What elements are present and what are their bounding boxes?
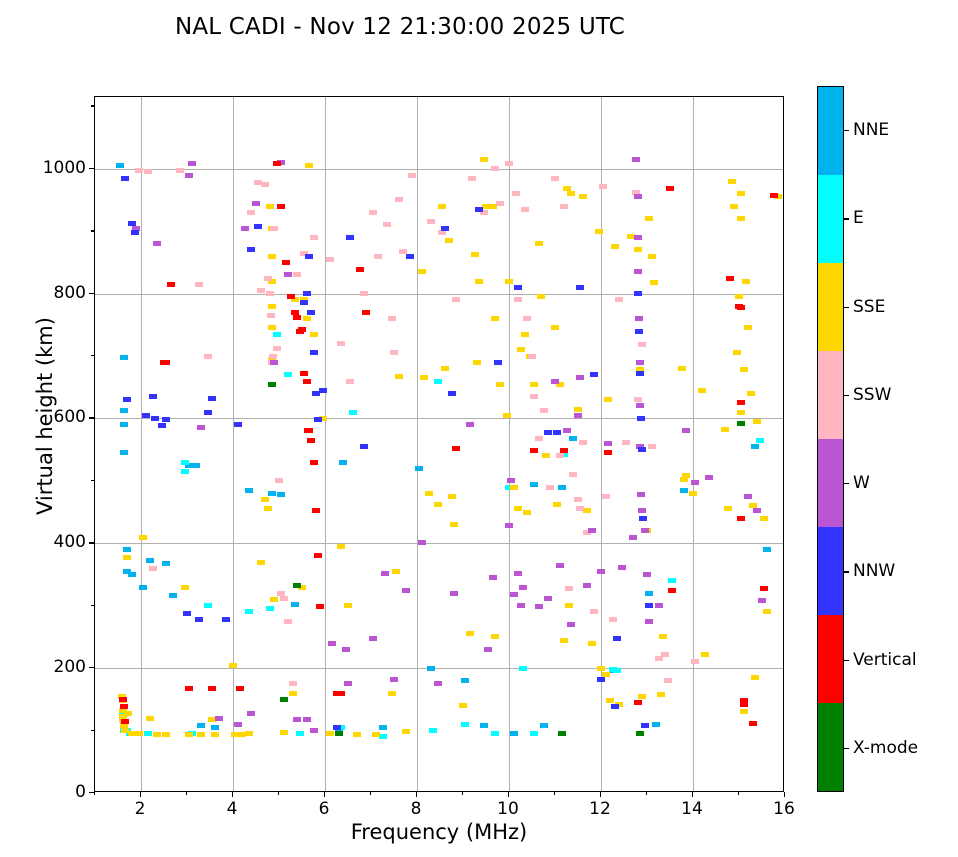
echo-marker [556, 563, 564, 568]
echo-marker [645, 591, 653, 596]
echo-marker [537, 294, 545, 299]
echo-marker [149, 394, 157, 399]
echo-marker [434, 379, 442, 384]
x-tick-mark [232, 792, 233, 797]
echo-marker [565, 586, 573, 591]
echo-marker [381, 571, 389, 576]
colorbar-segment-x-mode[interactable] [818, 703, 843, 791]
echo-marker [753, 419, 761, 424]
echo-marker [721, 427, 729, 432]
echo-marker [760, 586, 768, 591]
echo-marker [215, 716, 223, 721]
echo-marker [337, 544, 345, 549]
echo-marker [510, 731, 518, 736]
echo-marker [448, 494, 456, 499]
echo-marker [310, 728, 318, 733]
echo-marker [183, 611, 191, 616]
echo-marker [535, 241, 543, 246]
echo-marker [379, 725, 387, 730]
echo-marker [636, 731, 644, 736]
echo-marker [448, 391, 456, 396]
echo-marker [634, 291, 642, 296]
echo-marker [634, 269, 642, 274]
echo-marker [142, 413, 150, 418]
echo-marker [234, 722, 242, 727]
echo-marker [615, 297, 623, 302]
echo-marker [574, 497, 582, 502]
y-tick-minor [91, 605, 94, 606]
echo-marker [618, 565, 626, 570]
echo-marker [637, 492, 645, 497]
y-axis-label: Virtual height (km) [33, 251, 57, 581]
echo-marker [293, 717, 301, 722]
echo-marker [146, 558, 154, 563]
echo-marker [273, 346, 281, 351]
echo-marker [507, 478, 515, 483]
echo-marker [247, 210, 255, 215]
echo-marker [234, 422, 242, 427]
echo-marker [360, 444, 368, 449]
x-tick-minor [370, 792, 371, 795]
echo-marker [760, 516, 768, 521]
echo-marker [204, 603, 212, 608]
echo-marker [514, 297, 522, 302]
echo-marker [604, 397, 612, 402]
echo-marker [634, 700, 642, 705]
echo-marker [429, 728, 437, 733]
echo-marker [326, 731, 334, 736]
echo-marker [277, 204, 285, 209]
echo-marker [638, 694, 646, 699]
echo-marker [691, 659, 699, 664]
echo-marker [395, 197, 403, 202]
x-tick-mark [508, 792, 509, 797]
echo-marker [523, 510, 531, 515]
echo-marker [383, 222, 391, 227]
x-tick-minor [646, 792, 647, 795]
echo-marker [135, 168, 143, 173]
echo-marker [307, 438, 315, 443]
echo-marker [510, 592, 518, 597]
echo-marker [312, 508, 320, 513]
echo-marker [176, 168, 184, 173]
echo-marker [514, 285, 522, 290]
echo-marker [609, 617, 617, 622]
echo-marker [211, 732, 219, 737]
echo-marker [356, 267, 364, 272]
echo-marker [705, 475, 713, 480]
echo-marker [314, 553, 322, 558]
echo-marker [266, 606, 274, 611]
echo-marker [314, 417, 322, 422]
echo-marker [553, 502, 561, 507]
echo-marker [310, 460, 318, 465]
echo-marker [489, 575, 497, 580]
echo-marker [641, 723, 649, 728]
echo-marker [770, 193, 778, 198]
echo-marker [369, 210, 377, 215]
x-tick-mark [140, 792, 141, 797]
y-tick-mark [89, 542, 94, 543]
echo-marker [124, 711, 132, 716]
echo-marker [402, 588, 410, 593]
echo-marker [427, 666, 435, 671]
colorbar-segment-vertical[interactable] [818, 615, 843, 703]
echo-marker [622, 440, 630, 445]
echo-marker [167, 282, 175, 287]
echo-marker [291, 602, 299, 607]
x-tick-minor [554, 792, 555, 795]
echo-marker [268, 382, 276, 387]
echo-marker [590, 609, 598, 614]
echo-marker [204, 410, 212, 415]
echo-marker [655, 656, 663, 661]
echo-marker [245, 488, 253, 493]
echo-marker [576, 285, 584, 290]
colorbar-tick-mark [844, 571, 849, 572]
gridline-horizontal [95, 169, 783, 170]
x-tick-mark [416, 792, 417, 797]
echo-marker [744, 494, 752, 499]
x-tick-label: 12 [575, 799, 625, 819]
echo-marker [756, 438, 764, 443]
echo-marker [728, 179, 736, 184]
echo-marker [737, 516, 745, 521]
echo-marker [599, 184, 607, 189]
colorbar-label-nne: NNE [853, 120, 889, 140]
echo-marker [634, 247, 642, 252]
echo-marker [420, 375, 428, 380]
echo-marker [441, 226, 449, 231]
echo-marker [491, 166, 499, 171]
echo-marker [303, 379, 311, 384]
echo-marker [303, 717, 311, 722]
echo-marker [289, 691, 297, 696]
echo-marker [730, 204, 738, 209]
echo-marker [310, 332, 318, 337]
echo-marker [185, 686, 193, 691]
gridline-vertical [417, 97, 418, 791]
plot-area [94, 96, 784, 792]
echo-marker [273, 161, 281, 166]
echo-marker [491, 634, 499, 639]
echo-marker [284, 272, 292, 277]
echo-marker [542, 453, 550, 458]
echo-marker [275, 478, 283, 483]
echo-marker [724, 506, 732, 511]
y-tick-mark [89, 792, 94, 793]
echo-marker [229, 663, 237, 668]
echo-marker [553, 430, 561, 435]
colorbar-segment-nne[interactable] [818, 87, 843, 175]
gridline-vertical [509, 97, 510, 791]
echo-marker [691, 480, 699, 485]
echo-marker [300, 300, 308, 305]
echo-marker [135, 731, 143, 736]
echo-marker [645, 619, 653, 624]
echo-marker [496, 382, 504, 387]
echo-marker [316, 604, 324, 609]
echo-marker [560, 638, 568, 643]
echo-marker [753, 508, 761, 513]
echo-marker [379, 734, 387, 739]
y-tick-minor [91, 355, 94, 356]
echo-marker [282, 260, 290, 265]
echo-marker [120, 450, 128, 455]
echo-marker [737, 216, 745, 221]
echo-marker [346, 379, 354, 384]
echo-marker [735, 294, 743, 299]
echo-marker [749, 721, 757, 726]
echo-marker [328, 641, 336, 646]
y-tick-minor [91, 230, 94, 231]
colorbar-segment-ssw[interactable] [818, 351, 843, 439]
echo-marker [346, 235, 354, 240]
x-tick-label: 6 [299, 799, 349, 819]
echo-marker [326, 257, 334, 262]
echo-marker [197, 425, 205, 430]
echo-marker [638, 342, 646, 347]
echo-marker [530, 394, 538, 399]
echo-marker [388, 316, 396, 321]
echo-marker [613, 636, 621, 641]
echo-marker [266, 204, 274, 209]
echo-marker [445, 238, 453, 243]
y-tick-mark [89, 667, 94, 668]
echo-marker [303, 316, 311, 321]
gridline-vertical [693, 97, 694, 791]
echo-marker [280, 730, 288, 735]
gridline-horizontal [95, 294, 783, 295]
echo-marker [468, 176, 476, 181]
gridline-vertical [141, 97, 142, 791]
echo-marker [569, 472, 577, 477]
echo-marker [567, 191, 575, 196]
echo-marker [560, 204, 568, 209]
echo-marker [505, 523, 513, 528]
echo-marker [512, 191, 520, 196]
x-tick-label: 10 [483, 799, 533, 819]
echo-marker [701, 652, 709, 657]
echo-marker [162, 732, 170, 737]
echo-marker [146, 716, 154, 721]
echo-marker [151, 416, 159, 421]
echo-marker [434, 502, 442, 507]
echo-marker [558, 485, 566, 490]
colorbar-segment-nnw[interactable] [818, 527, 843, 615]
echo-marker [638, 447, 646, 452]
x-tick-label: 4 [207, 799, 257, 819]
echo-marker [635, 329, 643, 334]
echo-marker [305, 428, 313, 433]
echo-marker [438, 204, 446, 209]
x-tick-minor [94, 792, 95, 795]
echo-marker [310, 350, 318, 355]
echo-marker [153, 241, 161, 246]
echo-marker [544, 430, 552, 435]
echo-marker [197, 732, 205, 737]
echo-marker [270, 360, 278, 365]
echo-marker [579, 440, 587, 445]
x-tick-mark [324, 792, 325, 797]
echo-marker [245, 609, 253, 614]
gridline-horizontal [95, 543, 783, 544]
echo-marker [277, 492, 285, 497]
gridline-vertical [325, 97, 326, 791]
echo-marker [270, 226, 278, 231]
echo-marker [475, 279, 483, 284]
echo-marker [257, 288, 265, 293]
echo-marker [551, 325, 559, 330]
echo-marker [606, 698, 614, 703]
echo-marker [185, 732, 193, 737]
echo-marker [645, 603, 653, 608]
echo-marker [551, 176, 559, 181]
echo-marker [293, 583, 301, 588]
echo-marker [162, 360, 170, 365]
echo-marker [169, 593, 177, 598]
echo-marker [395, 374, 403, 379]
echo-marker [635, 316, 643, 321]
echo-marker [158, 423, 166, 428]
echo-marker [153, 732, 161, 737]
echo-marker [650, 280, 658, 285]
echo-marker [305, 254, 313, 259]
echo-marker [441, 366, 449, 371]
colorbar[interactable] [817, 86, 844, 792]
echo-marker [120, 704, 128, 709]
echo-marker [300, 371, 308, 376]
echo-marker [257, 560, 265, 565]
echo-marker [604, 441, 612, 446]
echo-marker [268, 304, 276, 309]
x-tick-label: 2 [115, 799, 165, 819]
echo-marker [643, 572, 651, 577]
colorbar-label-nnw: NNW [853, 561, 895, 581]
echo-marker [434, 681, 442, 686]
x-tick-mark [600, 792, 601, 797]
echo-marker [268, 325, 276, 330]
plot-canvas [95, 97, 783, 791]
echo-marker [390, 677, 398, 682]
echo-marker [121, 176, 129, 181]
echo-marker [491, 316, 499, 321]
echo-marker [751, 444, 759, 449]
echo-marker [645, 216, 653, 221]
echo-marker [261, 497, 269, 502]
echo-marker [763, 547, 771, 552]
echo-marker [588, 528, 596, 533]
echo-marker [636, 360, 644, 365]
echo-marker [514, 571, 522, 576]
colorbar-label-w: W [853, 473, 870, 493]
x-tick-minor [738, 792, 739, 795]
echo-marker [128, 572, 136, 577]
x-tick-label: 8 [391, 799, 441, 819]
echo-marker [280, 596, 288, 601]
echo-marker [634, 194, 642, 199]
colorbar-tick-mark [844, 307, 849, 308]
echo-marker [335, 731, 343, 736]
x-tick-mark [692, 792, 693, 797]
echo-marker [530, 482, 538, 487]
colorbar-tick-mark [844, 130, 849, 131]
echo-marker [535, 604, 543, 609]
echo-marker [740, 702, 748, 707]
echo-marker [461, 678, 469, 683]
echo-marker [131, 230, 139, 235]
echo-marker [438, 230, 446, 235]
page-title: NAL CADI - Nov 12 21:30:00 2025 UTC [0, 14, 800, 40]
echo-marker [510, 485, 518, 490]
echo-marker [480, 157, 488, 162]
y-tick-label: 1000 [6, 158, 86, 178]
echo-marker [269, 354, 277, 359]
echo-marker [763, 609, 771, 614]
echo-marker [737, 421, 745, 426]
x-axis-label: Frequency (MHz) [94, 820, 784, 844]
echo-marker [740, 709, 748, 714]
echo-marker [408, 173, 416, 178]
echo-marker [245, 731, 253, 736]
echo-marker [254, 224, 262, 229]
echo-marker [496, 201, 504, 206]
echo-marker [339, 460, 347, 465]
echo-marker [452, 446, 460, 451]
colorbar-tick-mark [844, 748, 849, 749]
echo-marker [636, 403, 644, 408]
echo-marker [726, 276, 734, 281]
echo-marker [139, 535, 147, 540]
echo-marker [162, 417, 170, 422]
x-tick-mark [784, 792, 785, 797]
echo-marker [595, 229, 603, 234]
echo-marker [392, 569, 400, 574]
echo-marker [574, 407, 582, 412]
echo-marker [655, 603, 663, 608]
echo-marker [268, 491, 276, 496]
echo-marker [597, 666, 605, 671]
echo-marker [569, 436, 577, 441]
echo-marker [737, 400, 745, 405]
echo-marker [551, 379, 559, 384]
echo-marker [576, 375, 584, 380]
echo-marker [144, 169, 152, 174]
echo-marker [261, 182, 269, 187]
colorbar-segment-sse[interactable] [818, 263, 843, 351]
echo-marker [540, 723, 548, 728]
echo-marker [590, 372, 598, 377]
echo-marker [668, 588, 676, 593]
echo-marker [353, 732, 361, 737]
colorbar-segment-e[interactable] [818, 175, 843, 263]
echo-marker [579, 194, 587, 199]
echo-marker [744, 325, 752, 330]
echo-marker [461, 722, 469, 727]
echo-marker [222, 617, 230, 622]
echo-marker [418, 269, 426, 274]
echo-marker [567, 622, 575, 627]
echo-marker [466, 422, 474, 427]
colorbar-label-x-mode: X-mode [853, 738, 918, 758]
colorbar-segment-w[interactable] [818, 439, 843, 527]
echo-marker [402, 729, 410, 734]
echo-marker [737, 410, 745, 415]
echo-marker [425, 491, 433, 496]
echo-marker [629, 535, 637, 540]
echo-marker [360, 291, 368, 296]
echo-marker [637, 416, 645, 421]
